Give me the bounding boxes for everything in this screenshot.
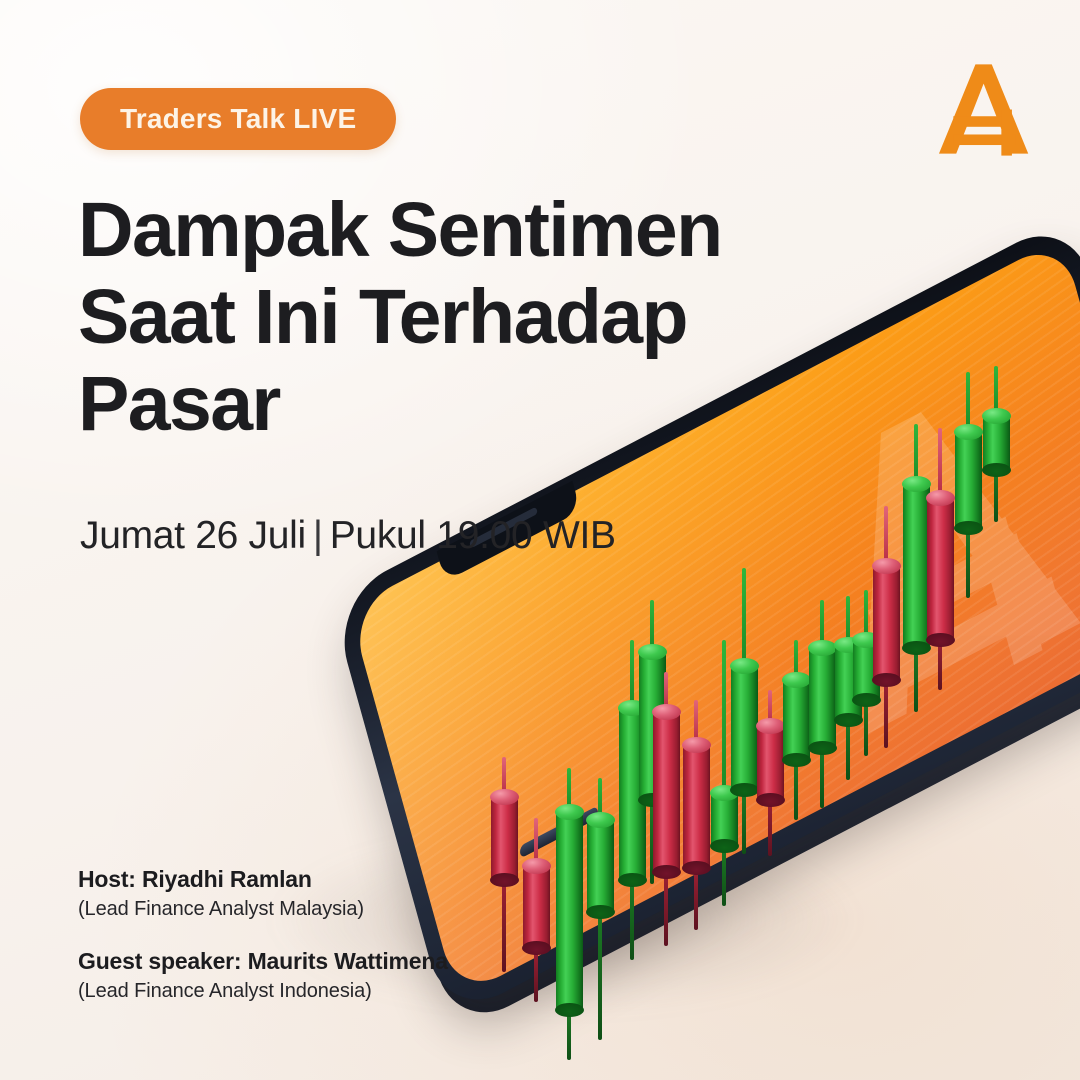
credit-host-name: Host: Riyadhi Ramlan — [78, 866, 448, 893]
live-badge: Traders Talk LIVE — [80, 88, 396, 150]
credit-guest: Guest speaker: Maurits Wattimena (Lead F… — [78, 948, 448, 1003]
schedule-line: Jumat 26 Juli|Pukul 19.00 WIB — [80, 514, 616, 558]
page-title-line-2: Saat Ini Terhadap — [78, 279, 798, 355]
schedule-date: Jumat 26 Juli — [80, 514, 306, 557]
antos-a-logo-icon — [938, 58, 1034, 162]
poster-canvas: Traders Talk LIVE Dampak Sentimen Saat I… — [0, 0, 1080, 1080]
schedule-separator: | — [306, 514, 330, 557]
credit-host: Host: Riyadhi Ramlan (Lead Finance Analy… — [78, 866, 448, 921]
credit-guest-role: (Lead Finance Analyst Indonesia) — [78, 980, 448, 1003]
credit-guest-name: Guest speaker: Maurits Wattimena — [78, 948, 448, 975]
credits-block: Host: Riyadhi Ramlan (Lead Finance Analy… — [78, 866, 448, 1030]
page-title: Dampak Sentimen Saat Ini Terhadap Pasar — [78, 192, 798, 454]
credit-host-role: (Lead Finance Analyst Malaysia) — [78, 898, 448, 921]
page-title-line-1: Dampak Sentimen — [78, 192, 798, 268]
schedule-time: Pukul 19.00 WIB — [330, 514, 616, 557]
page-title-line-3: Pasar — [78, 366, 798, 442]
live-badge-label: Traders Talk LIVE — [120, 103, 356, 135]
